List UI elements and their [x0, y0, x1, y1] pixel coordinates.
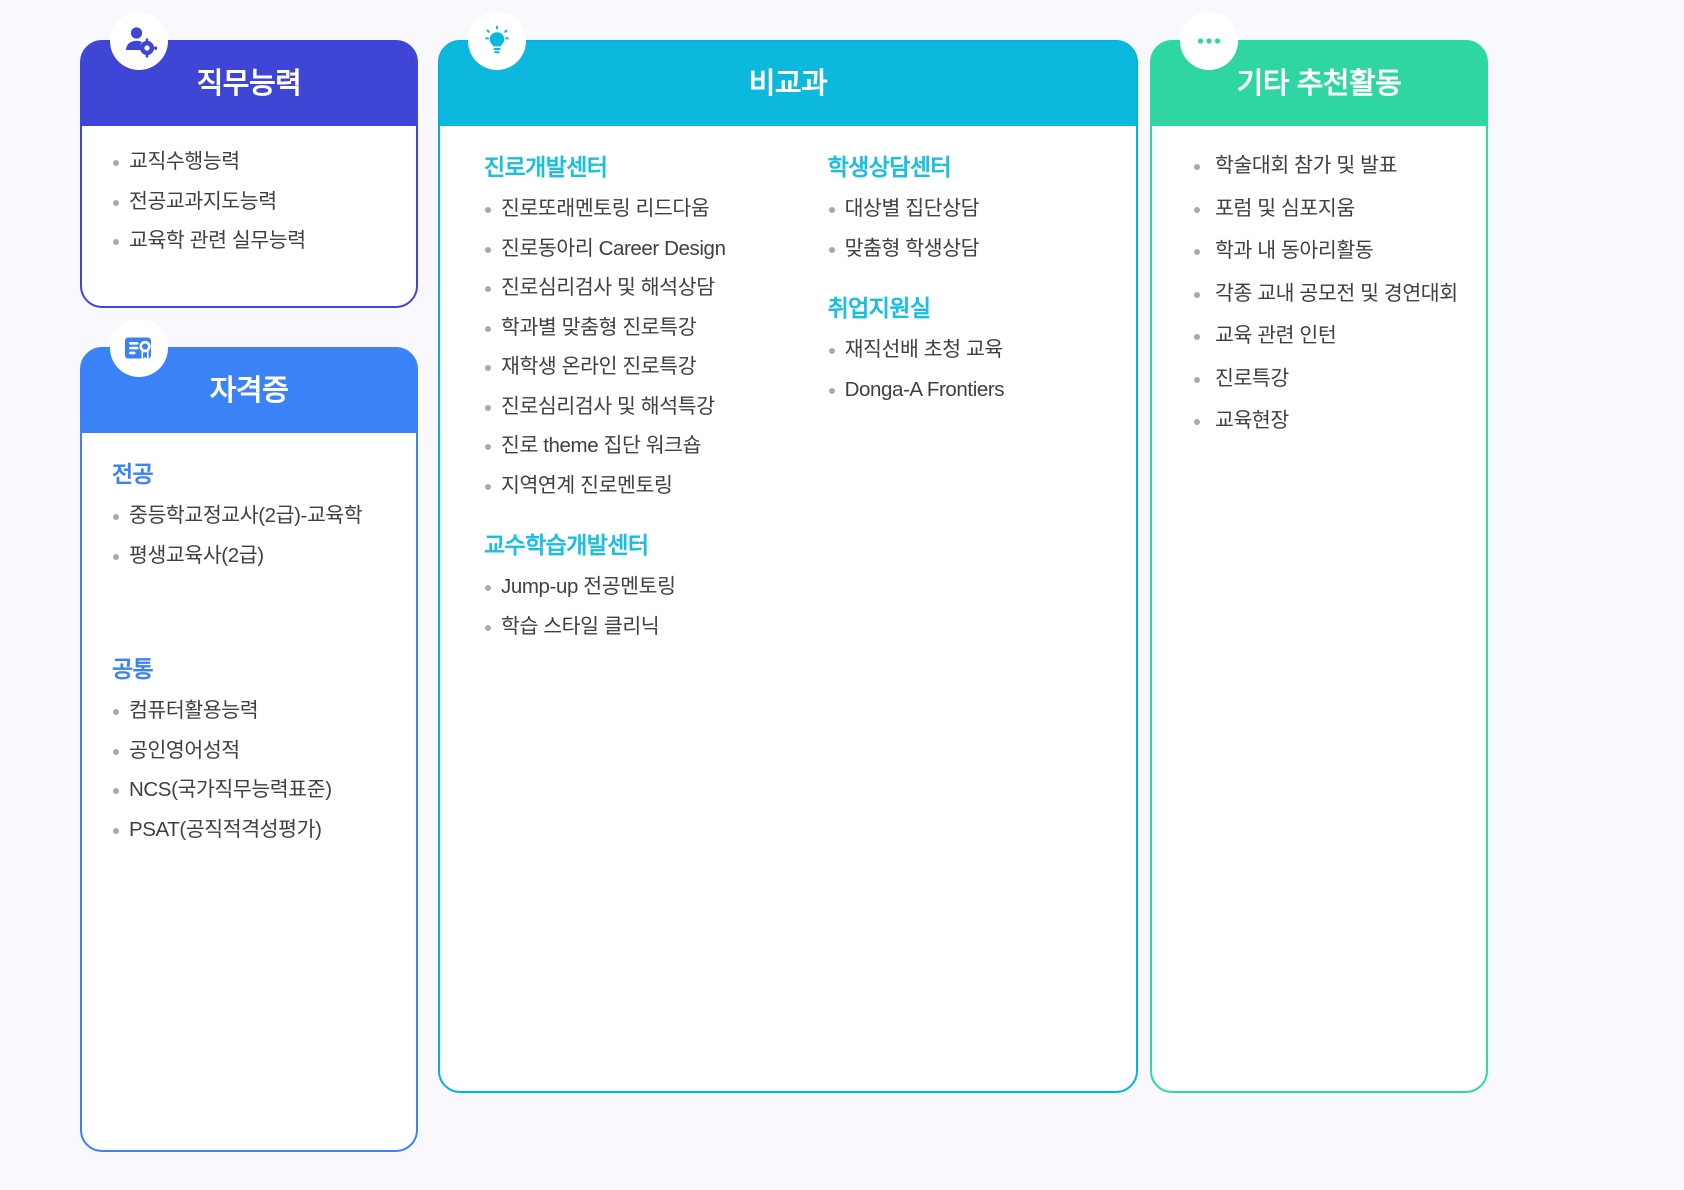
list-item: 포럼 및 심포지움	[1188, 199, 1456, 220]
card-certification-title: 자격증	[210, 377, 289, 406]
list-item: 학습 스타일 클리닉	[484, 617, 772, 638]
cert-major-list: 중등학교정교사(2급)-교육학 평생교육사(2급)	[112, 506, 386, 566]
card-extracurricular: 비교과 진로개발센터 진로또래멘토링 리드다움 진로동아리 Career Des…	[438, 40, 1138, 1093]
list-item: 진로심리검사 및 해석특강	[484, 397, 772, 418]
card-other-activities-body: 학술대회 참가 및 발표 포럼 및 심포지움 학과 내 동아리활동 각종 교내 …	[1152, 126, 1486, 474]
job-competency-list: 교직수행능력 전공교과지도능력 교육학 관련 실무능력	[112, 152, 386, 252]
user-gear-icon	[110, 12, 168, 70]
list-item: 교직수행능력	[112, 152, 386, 173]
list-item: 진로또래멘토링 리드다움	[484, 199, 772, 220]
career-development-center-list: 진로또래멘토링 리드다움 진로동아리 Career Design 진로심리검사 …	[484, 199, 772, 496]
list-item: 진로특강	[1188, 369, 1456, 390]
list-item: 진로심리검사 및 해석상담	[484, 278, 772, 299]
group-employment-support-office-heading: 취업지원실	[828, 297, 1096, 320]
employment-support-office-list: 재직선배 초청 교육 Donga-A Frontiers	[828, 340, 1096, 400]
card-job-title: 직무능력	[197, 70, 302, 99]
teaching-learning-center-list: Jump-up 전공멘토링 학습 스타일 클리닉	[484, 577, 772, 637]
cert-group-major-heading: 전공	[112, 463, 386, 486]
group-career-development-center-heading: 진로개발센터	[484, 156, 772, 179]
extracurricular-column-right: 학생상담센터 대상별 집단상담 맞춤형 학생상담 취업지원실 재직선배 초청 교…	[828, 156, 1096, 656]
group-career-development-center: 진로개발센터 진로또래멘토링 리드다움 진로동아리 Career Design …	[484, 156, 772, 496]
group-student-counseling-center: 학생상담센터 대상별 집단상담 맞춤형 학생상담	[828, 156, 1096, 259]
list-item: 학술대회 참가 및 발표	[1188, 156, 1456, 177]
card-certification-body: 전공 중등학교정교사(2급)-교육학 평생교육사(2급) 공통 컴퓨터활용능력 …	[82, 433, 416, 879]
card-extracurricular-title: 비교과	[749, 70, 828, 99]
group-teaching-learning-center: 교수학습개발센터 Jump-up 전공멘토링 학습 스타일 클리닉	[484, 534, 772, 637]
cert-group-common: 공통 컴퓨터활용능력 공인영어성적 NCS(국가직무능력표준) PSAT(공직적…	[112, 658, 386, 840]
list-item: 컴퓨터활용능력	[112, 701, 386, 722]
ellipsis-icon	[1180, 12, 1238, 70]
list-item: 대상별 집단상담	[828, 199, 1096, 220]
cert-group-major: 전공 중등학교정교사(2급)-교육학 평생교육사(2급)	[112, 463, 386, 566]
card-job-competency: 직무능력 교직수행능력 전공교과지도능력 교육학 관련 실무능력	[80, 40, 418, 308]
list-item: 중등학교정교사(2급)-교육학	[112, 506, 386, 527]
card-other-activities: 기타 추천활동 학술대회 참가 및 발표 포럼 및 심포지움 학과 내 동아리활…	[1150, 40, 1488, 1093]
card-extracurricular-body: 진로개발센터 진로또래멘토링 리드다움 진로동아리 Career Design …	[440, 126, 1136, 676]
list-item: 학과별 맞춤형 진로특강	[484, 318, 772, 339]
cert-group-common-heading: 공통	[112, 658, 386, 681]
list-item: 각종 교내 공모전 및 경연대회	[1188, 284, 1456, 305]
infographic-board: 직무능력 교직수행능력 전공교과지도능력 교육학 관련 실무능력 자격증	[0, 0, 1684, 1190]
student-counseling-center-list: 대상별 집단상담 맞춤형 학생상담	[828, 199, 1096, 259]
card-extracurricular-header: 비교과	[440, 42, 1136, 126]
list-item: Donga-A Frontiers	[828, 380, 1096, 401]
list-item: 학과 내 동아리활동	[1188, 241, 1456, 262]
group-student-counseling-center-heading: 학생상담센터	[828, 156, 1096, 179]
list-item: 전공교과지도능력	[112, 192, 386, 213]
list-item: 재직선배 초청 교육	[828, 340, 1096, 361]
list-item: 지역연계 진로멘토링	[484, 476, 772, 497]
extracurricular-columns: 진로개발센터 진로또래멘토링 리드다움 진로동아리 Career Design …	[484, 156, 1096, 656]
card-other-activities-title: 기타 추천활동	[1237, 70, 1402, 99]
cert-common-list: 컴퓨터활용능력 공인영어성적 NCS(국가직무능력표준) PSAT(공직적격성평…	[112, 701, 386, 840]
other-activities-list: 학술대회 참가 및 발표 포럼 및 심포지움 학과 내 동아리활동 각종 교내 …	[1188, 156, 1456, 432]
list-item: NCS(국가직무능력표준)	[112, 780, 386, 801]
list-item: 교육학 관련 실무능력	[112, 231, 386, 252]
list-item: 진로동아리 Career Design	[484, 239, 772, 260]
list-item: 진로 theme 집단 워크숍	[484, 436, 772, 457]
lightbulb-icon	[468, 12, 526, 70]
card-job-body: 교직수행능력 전공교과지도능력 교육학 관련 실무능력	[82, 126, 416, 291]
extracurricular-column-left: 진로개발센터 진로또래멘토링 리드다움 진로동아리 Career Design …	[484, 156, 772, 656]
group-employment-support-office: 취업지원실 재직선배 초청 교육 Donga-A Frontiers	[828, 297, 1096, 400]
group-teaching-learning-center-heading: 교수학습개발센터	[484, 534, 772, 557]
list-item: 재학생 온라인 진로특강	[484, 357, 772, 378]
list-item: 교육 관련 인턴	[1188, 326, 1456, 347]
list-item: PSAT(공직적격성평가)	[112, 820, 386, 841]
list-item: 공인영어성적	[112, 741, 386, 762]
list-item: Jump-up 전공멘토링	[484, 577, 772, 598]
list-item: 맞춤형 학생상담	[828, 239, 1096, 260]
certificate-icon	[110, 319, 168, 377]
list-item: 교육현장	[1188, 411, 1456, 432]
card-certification: 자격증 전공 중등학교정교사(2급)-교육학 평생교육사(2급) 공통 컴퓨터활…	[80, 347, 418, 1152]
list-item: 평생교육사(2급)	[112, 546, 386, 567]
